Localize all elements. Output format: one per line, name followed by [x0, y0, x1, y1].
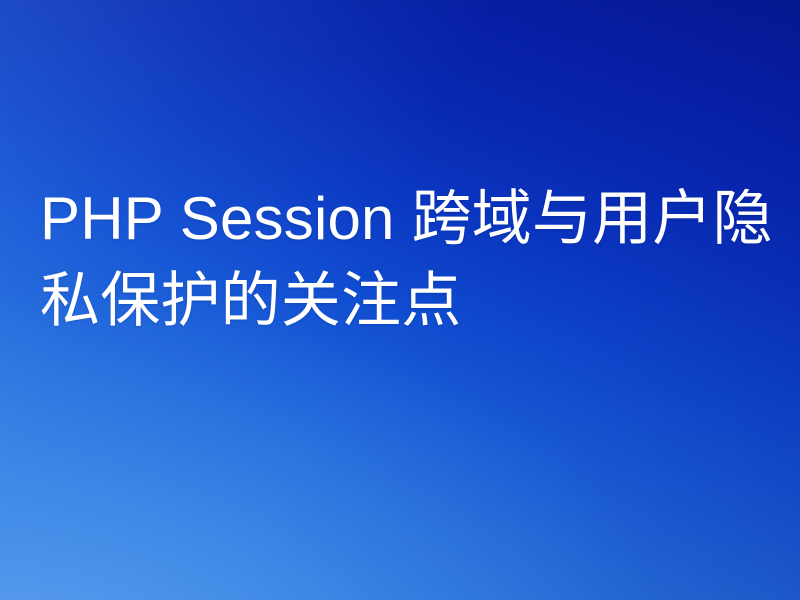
title-block: PHP Session 跨域与用户隐私保护的关注点: [40, 178, 780, 342]
title-card-slide: PHP Session 跨域与用户隐私保护的关注点: [0, 0, 800, 600]
page-title: PHP Session 跨域与用户隐私保护的关注点: [40, 178, 780, 342]
